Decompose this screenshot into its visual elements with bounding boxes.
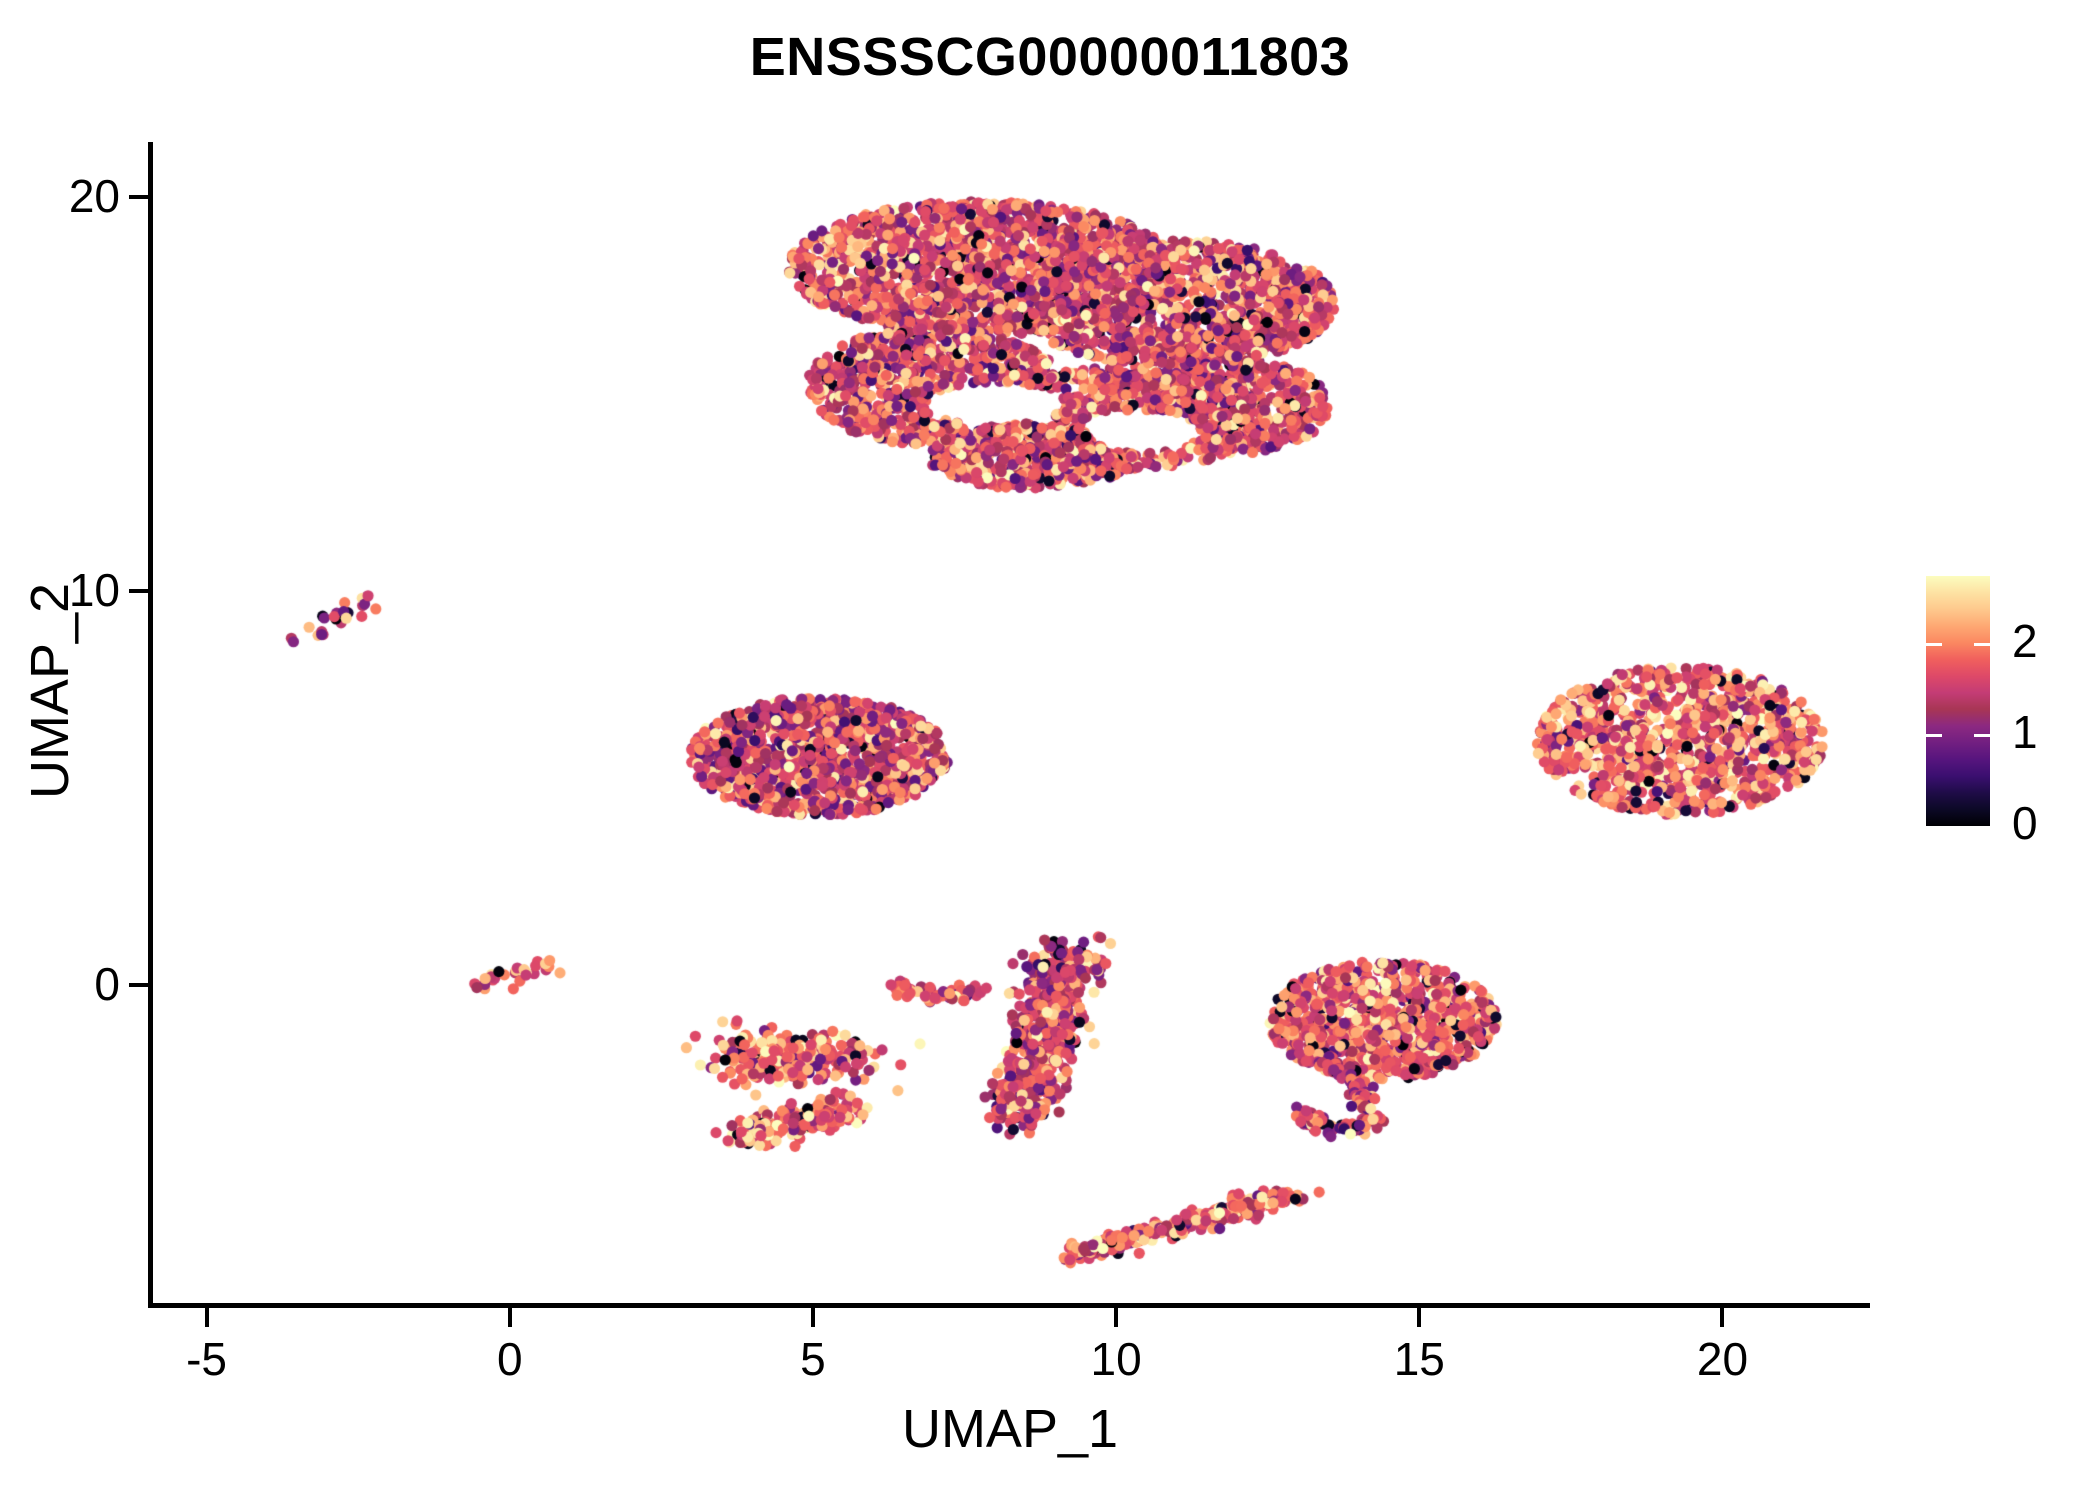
x-tick-mark (811, 1308, 815, 1327)
colorbar-tick-label: 0 (2012, 800, 2038, 846)
plot-panel (152, 142, 1868, 1304)
colorbar-tick-label: 2 (2012, 618, 2038, 664)
colorbar-tick (1926, 643, 1990, 646)
umap-feature-plot-figure: ENSSSCG00000011803 -505101520 01020 UMAP… (0, 0, 2100, 1500)
colorbar-legend: 012 (1926, 576, 2096, 896)
colorbar-tick-label: 1 (2012, 709, 2038, 755)
x-tick-mark (1720, 1308, 1724, 1327)
x-tick-label: 20 (1642, 1332, 1802, 1386)
x-tick-label: -5 (127, 1332, 287, 1386)
scatter-plot-canvas (152, 142, 1868, 1304)
x-tick-label: 10 (1036, 1332, 1196, 1386)
y-axis-title: UMAP_2 (19, 341, 81, 1041)
x-axis-title: UMAP_1 (152, 1398, 1868, 1460)
x-tick-label: 0 (430, 1332, 590, 1386)
x-tick-mark (205, 1308, 209, 1327)
y-tick-mark (129, 195, 148, 199)
colorbar-gradient (1926, 576, 1990, 826)
page-title: ENSSSCG00000011803 (0, 26, 2100, 88)
y-tick-label: 20 (0, 169, 120, 223)
x-tick-mark (1114, 1308, 1118, 1327)
x-tick-label: 15 (1339, 1332, 1499, 1386)
y-axis-line (148, 142, 153, 1308)
x-tick-mark (508, 1308, 512, 1327)
y-tick-mark (129, 983, 148, 987)
colorbar-tick (1926, 734, 1990, 737)
y-tick-mark (129, 589, 148, 593)
x-tick-label: 5 (733, 1332, 893, 1386)
x-tick-mark (1417, 1308, 1421, 1327)
x-axis-line (148, 1303, 1870, 1308)
